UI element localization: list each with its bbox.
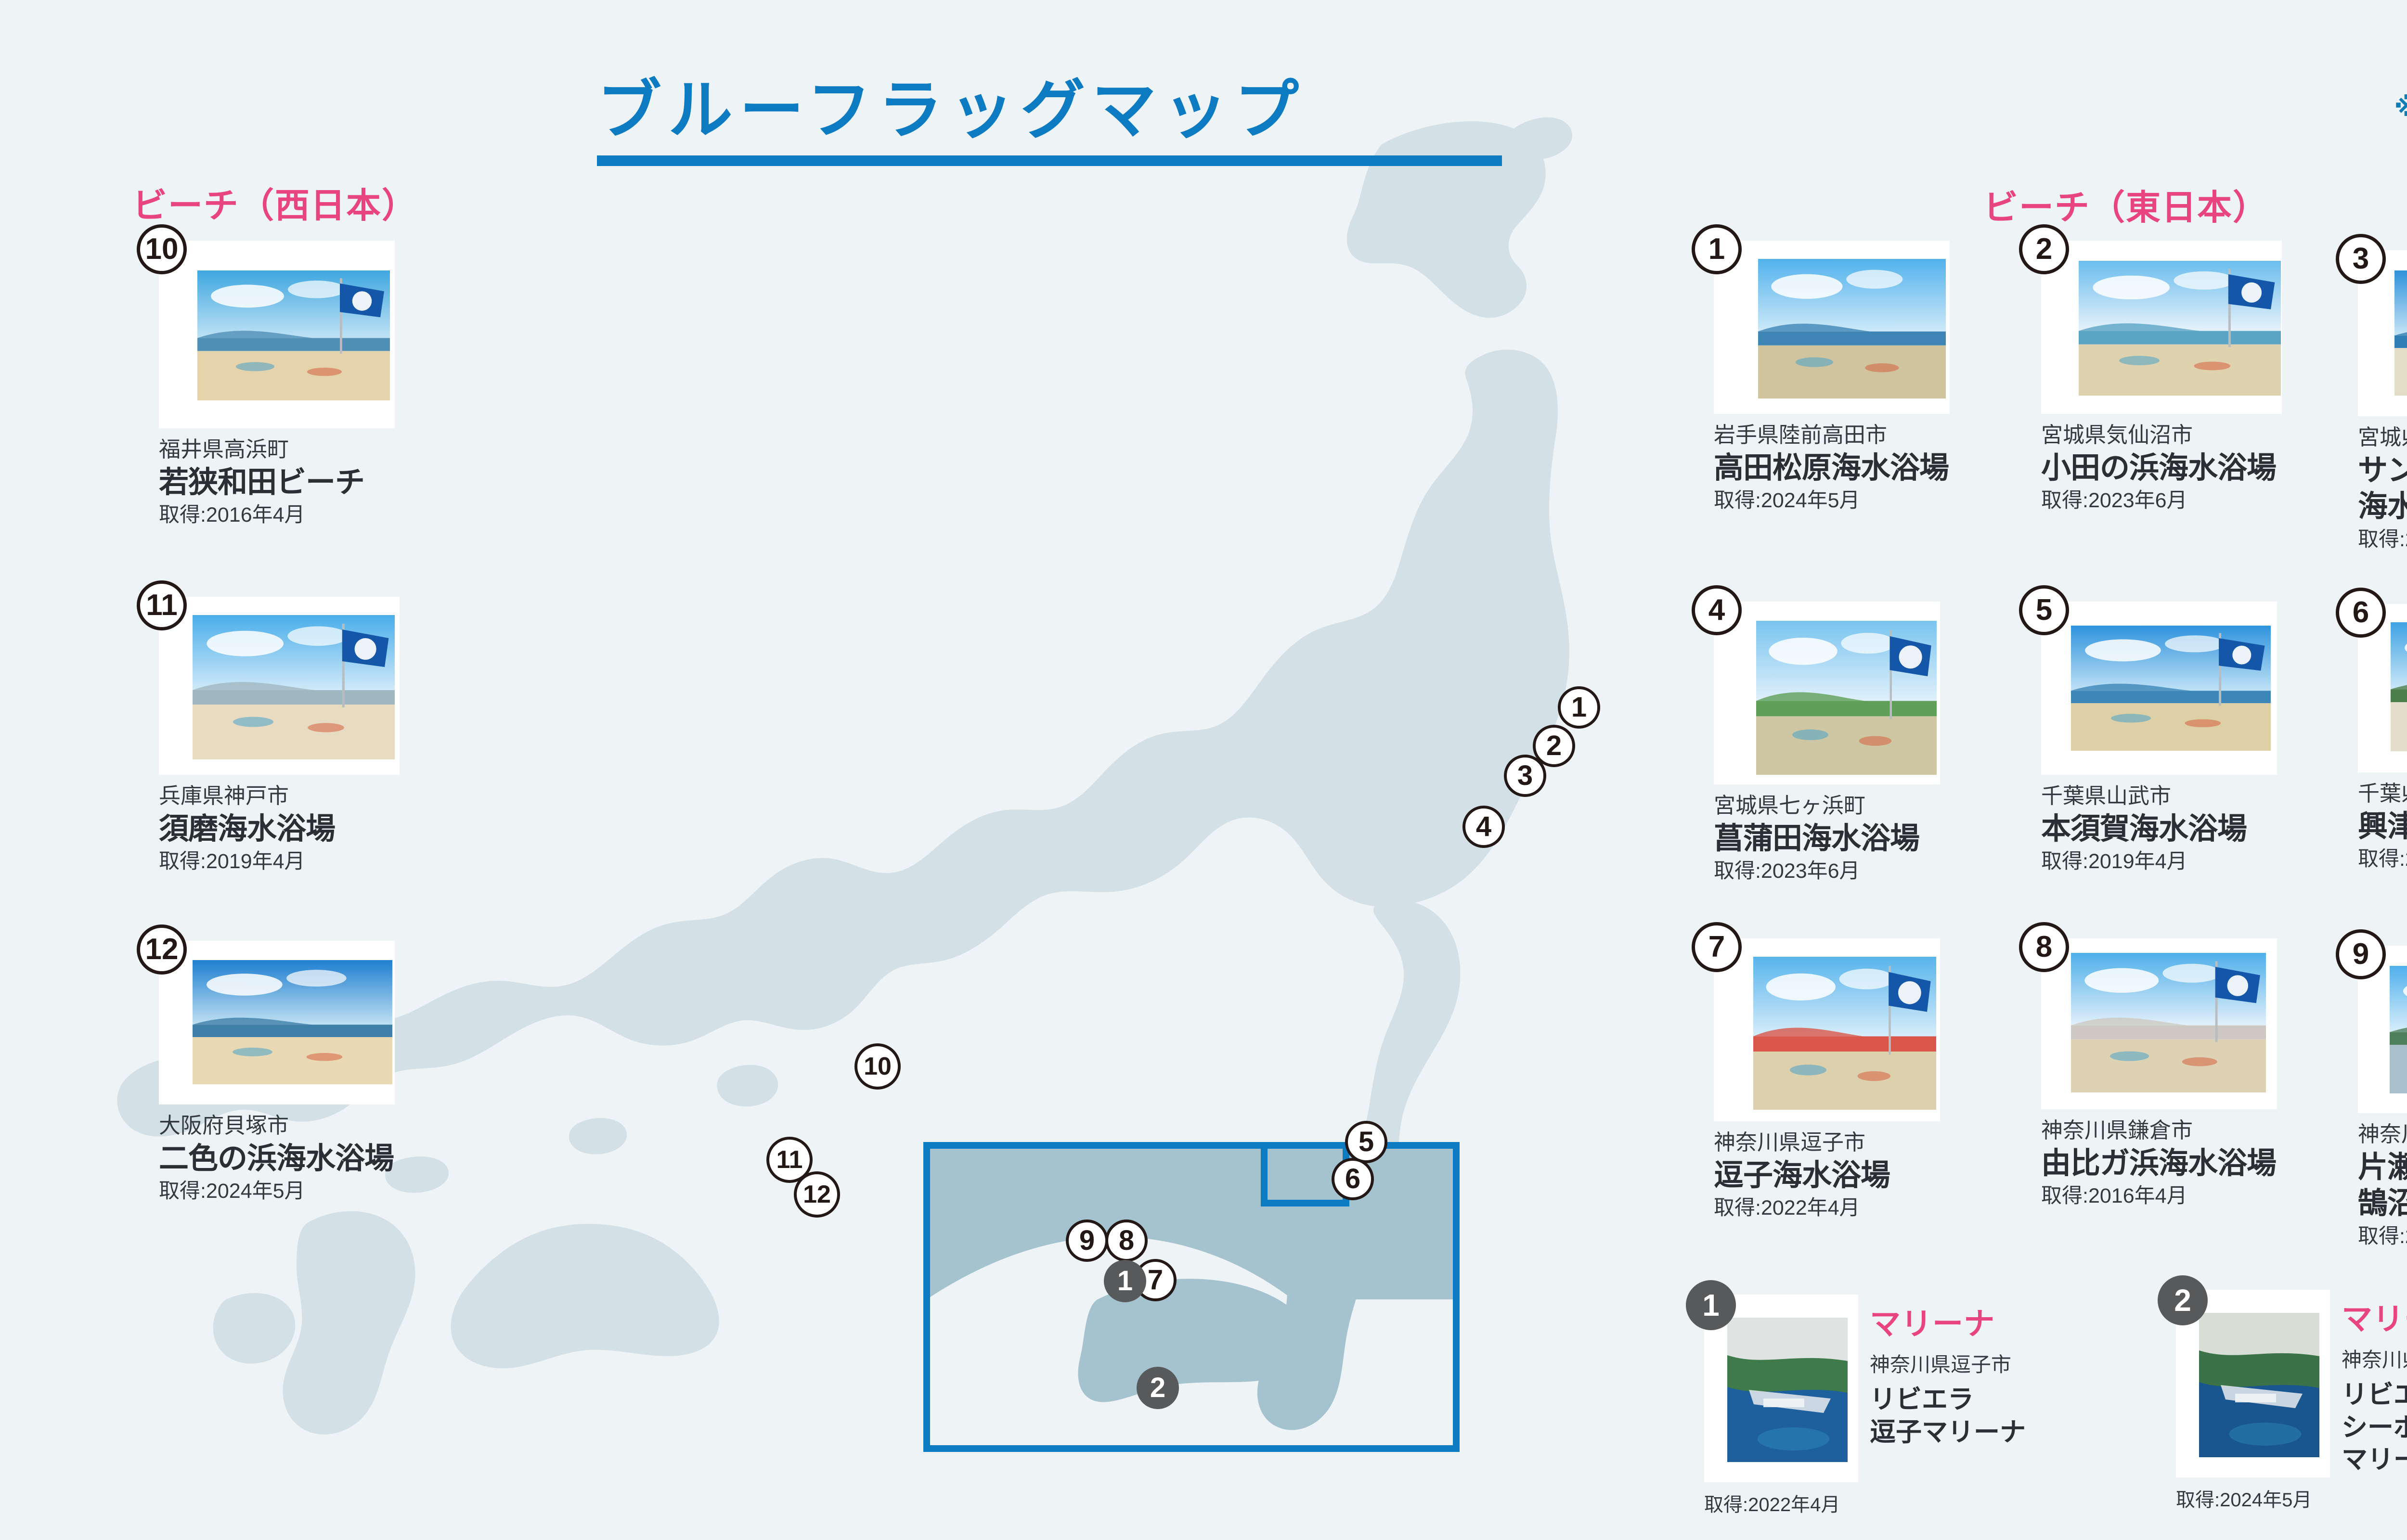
- card-number-badge-5: 5: [2019, 585, 2069, 635]
- photo-frame: 3: [2358, 250, 2407, 416]
- card-beach-name: サンオーレそではま: [2358, 452, 2407, 489]
- katase-kugenuma-photo: [2390, 966, 2407, 1093]
- photo-frame: 7: [1714, 938, 1940, 1121]
- photo-frame: 5: [2041, 602, 2277, 775]
- kodanohama-photo: [2079, 261, 2281, 396]
- beach-card-6[interactable]: 6千葉県勝浦市興津海水浴場取得:2023年5月: [2358, 604, 2407, 874]
- map-marker-beach-9[interactable]: 9: [1066, 1219, 1108, 1262]
- marina-info: マリーナ神奈川県逗子市リビエラ逗子マリーナ: [1870, 1295, 2026, 1449]
- card-caption: 千葉県山武市本須賀海水浴場取得:2019年4月: [2041, 782, 2277, 876]
- map-marker-beach-3[interactable]: 3: [1504, 755, 1546, 797]
- photo-frame: 4: [1714, 602, 1940, 784]
- card-beach-name: 二色の浜海水浴場: [159, 1141, 395, 1177]
- card-acquired-date: 取得:2024年5月: [1714, 486, 1950, 515]
- marina-name-line1: リビエラ: [2342, 1379, 2407, 1412]
- card-beach-name: 本須賀海水浴場: [2041, 811, 2277, 847]
- photo-frame: 8: [2041, 938, 2277, 1109]
- marina-name-line2: 逗子マリーナ: [1870, 1416, 2026, 1449]
- marina-acquired-date: 取得:2024年5月: [2176, 1484, 2330, 1512]
- yuigahama-photo: [2071, 953, 2266, 1092]
- card-caption: 宮城県七ヶ浜町菖蒲田海水浴場取得:2023年6月: [1714, 791, 1940, 886]
- shobuta-photo: [1756, 621, 1937, 775]
- map-marker-beach-5[interactable]: 5: [1345, 1121, 1387, 1163]
- card-prefecture: 神奈川県藤沢市: [2358, 1120, 2407, 1149]
- card-number-badge-2: 2: [2019, 224, 2069, 274]
- card-prefecture: 大阪府貝塚市: [159, 1111, 395, 1141]
- section-heading-east-japan: ビーチ（東日本）: [1983, 179, 2268, 230]
- marina-name-line1: リビエラ: [1870, 1384, 2026, 1416]
- photo-frame: 1: [1714, 241, 1950, 414]
- card-number-badge-12: 12: [137, 924, 187, 975]
- beach-card-9[interactable]: 9神奈川県藤沢市片瀬西浜・鵠沼海水浴場取得:2021年4月: [2358, 946, 2407, 1251]
- section-heading-west-japan: ビーチ（西日本）: [132, 177, 417, 228]
- map-marker-beach-6[interactable]: 6: [1332, 1158, 1374, 1200]
- title-underline-rule: [597, 155, 1502, 166]
- photo-frame: 6: [2358, 604, 2407, 772]
- marina-prefecture: 神奈川県逗子市: [1870, 1348, 2026, 1378]
- card-number-badge-6: 6: [2336, 588, 2386, 638]
- poster-title-block: ブルーフラッグマップ: [597, 77, 1502, 166]
- photo-frame: 10: [159, 241, 395, 428]
- card-number-badge-7: 7: [1692, 922, 1742, 972]
- card-acquired-date: 取得:2016年4月: [159, 500, 395, 529]
- card-number-badge-1: 1: [1692, 224, 1742, 274]
- map-marker-marina-2[interactable]: 2: [1137, 1367, 1179, 1409]
- card-beach-name: 片瀬西浜・: [2358, 1149, 2407, 1186]
- card-acquired-date: 取得:2022年4月: [1714, 1193, 1940, 1222]
- sun-ole-sodehama-photo: [2394, 270, 2407, 396]
- card-prefecture: 宮城県気仙沼市: [2041, 421, 2282, 450]
- marina-card-2[interactable]: 2取得:2024年5月マリーナ神奈川県三浦市リビエラシーボニアマリーナ: [2176, 1290, 2407, 1512]
- card-caption: 千葉県勝浦市興津海水浴場取得:2023年5月: [2358, 779, 2407, 874]
- map-marker-beach-8[interactable]: 8: [1105, 1219, 1148, 1262]
- card-acquired-date: 取得:2023年6月: [2041, 486, 2282, 515]
- map-marker-beach-12[interactable]: 12: [794, 1171, 840, 1218]
- card-beach-name-line2: 海水浴場: [2358, 488, 2407, 525]
- card-prefecture: 千葉県勝浦市: [2358, 779, 2407, 808]
- map-marker-marina-1[interactable]: 1: [1104, 1260, 1146, 1302]
- map-marker-beach-1[interactable]: 1: [1558, 686, 1600, 729]
- marina-name-line2: シーボニア: [2342, 1412, 2407, 1444]
- beach-card-8[interactable]: 8神奈川県鎌倉市由比ガ浜海水浴場取得:2016年4月: [2041, 938, 2277, 1211]
- card-caption: 宮城県気仙沼市小田の浜海水浴場取得:2023年6月: [2041, 421, 2282, 515]
- photo-frame: 1: [1704, 1295, 1858, 1482]
- card-number-badge-3: 3: [2336, 234, 2386, 284]
- card-beach-name: 若狭和田ビーチ: [159, 464, 395, 501]
- card-beach-name-line2: 鵠沼海水浴場: [2358, 1185, 2407, 1222]
- beach-card-12[interactable]: 12大阪府貝塚市二色の浜海水浴場取得:2024年5月: [159, 941, 395, 1206]
- map-marker-beach-10[interactable]: 10: [854, 1043, 901, 1090]
- card-beach-name: 由比ガ浜海水浴場: [2041, 1145, 2277, 1182]
- beach-card-5[interactable]: 5千葉県山武市本須賀海水浴場取得:2019年4月: [2041, 602, 2277, 876]
- blue-flag-map-poster: ブルーフラッグマップ ※2024年5月現在 ビーチ（西日本） ビーチ（東日本） …: [0, 0, 2407, 1540]
- as-of-note: ※2024年5月現在: [2394, 86, 2407, 124]
- photo-frame: 2: [2176, 1290, 2330, 1477]
- card-acquired-date: 取得:2023年6月: [2358, 525, 2407, 554]
- card-acquired-date: 取得:2023年6月: [1714, 857, 1940, 885]
- card-caption: 神奈川県藤沢市片瀬西浜・鵠沼海水浴場取得:2021年4月: [2358, 1120, 2407, 1251]
- card-number-badge-9: 9: [2336, 929, 2386, 979]
- card-prefecture: 福井県高浜町: [159, 435, 395, 464]
- zushi-photo: [1753, 957, 1936, 1110]
- nishikinohama-beach-photo: [193, 960, 392, 1084]
- card-prefecture: 宮城県南三陸町: [2358, 423, 2407, 452]
- takata-matsubara-photo: [1758, 259, 1946, 398]
- beach-card-2[interactable]: 2宮城県気仙沼市小田の浜海水浴場取得:2023年6月: [2041, 241, 2282, 515]
- suma-beach-photo: [193, 615, 395, 759]
- card-caption: 岩手県陸前高田市高田松原海水浴場取得:2024年5月: [1714, 421, 1950, 515]
- marina-prefecture: 神奈川県三浦市: [2342, 1344, 2407, 1373]
- card-beach-name: 須磨海水浴場: [159, 811, 400, 847]
- card-number-badge-8: 8: [2019, 922, 2069, 972]
- card-caption: 神奈川県逗子市逗子海水浴場取得:2022年4月: [1714, 1128, 1940, 1223]
- card-prefecture: 宮城県七ヶ浜町: [1714, 791, 1940, 821]
- card-beach-name: 興津海水浴場: [2358, 808, 2407, 845]
- marina-label: マリーナ: [2342, 1302, 2407, 1336]
- card-acquired-date: 取得:2021年4月: [2358, 1222, 2407, 1251]
- card-beach-name: 逗子海水浴場: [1714, 1157, 1940, 1194]
- marina-number-badge-2: 2: [2158, 1275, 2208, 1325]
- card-acquired-date: 取得:2019年4月: [2041, 847, 2277, 876]
- wakasa-wada-beach-photo: [197, 270, 390, 400]
- marina-label: マリーナ: [1870, 1307, 2026, 1341]
- card-acquired-date: 取得:2019年4月: [159, 847, 400, 876]
- card-number-badge-10: 10: [137, 224, 187, 274]
- card-acquired-date: 取得:2016年4月: [2041, 1181, 2277, 1210]
- marina-card-1[interactable]: 1取得:2022年4月マリーナ神奈川県逗子市リビエラ逗子マリーナ: [1704, 1295, 2026, 1517]
- card-caption: 福井県高浜町若狭和田ビーチ取得:2016年4月: [159, 435, 395, 530]
- photo-frame: 2: [2041, 241, 2282, 414]
- photo-frame: 11: [159, 597, 400, 775]
- motosuka-photo: [2071, 626, 2271, 751]
- beach-card-7[interactable]: 7神奈川県逗子市逗子海水浴場取得:2022年4月: [1714, 938, 1940, 1223]
- card-caption: 大阪府貝塚市二色の浜海水浴場取得:2024年5月: [159, 1111, 395, 1206]
- marina-number-badge-1: 1: [1686, 1280, 1736, 1330]
- map-marker-beach-4[interactable]: 4: [1462, 806, 1505, 848]
- beach-card-11[interactable]: 11兵庫県神戸市須磨海水浴場取得:2019年4月: [159, 597, 400, 876]
- page-title: ブルーフラッグマップ: [597, 77, 1502, 145]
- card-acquired-date: 取得:2024年5月: [159, 1177, 395, 1206]
- card-caption: 神奈川県鎌倉市由比ガ浜海水浴場取得:2016年4月: [2041, 1116, 2277, 1211]
- card-prefecture: 兵庫県神戸市: [159, 782, 400, 811]
- riviera-seabornia-marina-photo: [2199, 1313, 2319, 1457]
- riviera-zushi-marina-photo: [1727, 1318, 1848, 1462]
- card-caption: 兵庫県神戸市須磨海水浴場取得:2019年4月: [159, 782, 400, 876]
- card-prefecture: 神奈川県逗子市: [1714, 1128, 1940, 1157]
- marina-name-line3: マリーナ: [2342, 1444, 2407, 1476]
- marina-info: マリーナ神奈川県三浦市リビエラシーボニアマリーナ: [2342, 1290, 2407, 1476]
- card-number-badge-11: 11: [137, 580, 187, 630]
- card-beach-name: 小田の浜海水浴場: [2041, 450, 2282, 487]
- card-caption: 宮城県南三陸町サンオーレそではま海水浴場取得:2023年6月: [2358, 423, 2407, 554]
- card-number-badge-4: 4: [1692, 585, 1742, 635]
- card-acquired-date: 取得:2023年5月: [2358, 845, 2407, 873]
- beach-card-1[interactable]: 1岩手県陸前高田市高田松原海水浴場取得:2024年5月: [1714, 241, 1950, 515]
- card-prefecture: 岩手県陸前高田市: [1714, 421, 1950, 450]
- card-beach-name: 菖蒲田海水浴場: [1714, 821, 1940, 857]
- photo-frame: 12: [159, 941, 395, 1104]
- photo-frame: 9: [2358, 946, 2407, 1113]
- okitsu-photo: [2391, 622, 2407, 751]
- beach-card-4[interactable]: 4宮城県七ヶ浜町菖蒲田海水浴場取得:2023年6月: [1714, 602, 1940, 886]
- beach-card-10[interactable]: 10福井県高浜町若狭和田ビーチ取得:2016年4月: [159, 241, 395, 530]
- card-beach-name: 高田松原海水浴場: [1714, 450, 1950, 487]
- card-prefecture: 神奈川県鎌倉市: [2041, 1116, 2277, 1145]
- beach-card-3[interactable]: 3宮城県南三陸町サンオーレそではま海水浴場取得:2023年6月: [2358, 250, 2407, 554]
- marina-acquired-date: 取得:2022年4月: [1704, 1489, 1858, 1517]
- card-prefecture: 千葉県山武市: [2041, 782, 2277, 811]
